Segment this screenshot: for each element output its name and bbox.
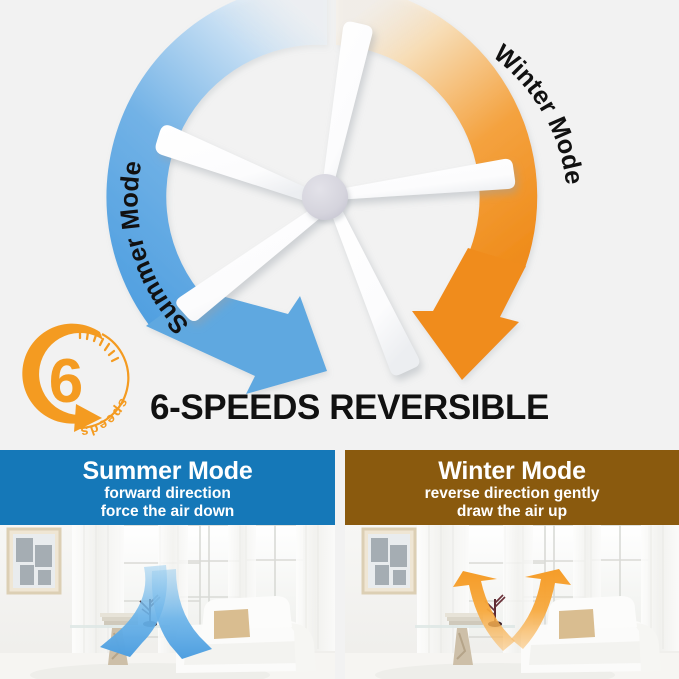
accent-pillow (214, 609, 250, 639)
winter-banner-title: Winter Mode (438, 457, 586, 485)
six-speeds-badge: 6 speeds (18, 318, 138, 438)
summer-mode-banner: Summer Mode forward direction force the … (0, 450, 335, 525)
summer-banner-title: Summer Mode (82, 457, 252, 485)
summer-banner-line2: force the air down (101, 503, 235, 521)
winter-mode-banner: Winter Mode reverse direction gently dra… (345, 450, 679, 525)
page-title: 6-SPEEDS REVERSIBLE (150, 385, 620, 431)
accent-pillow (559, 609, 595, 639)
summer-room-photo (0, 525, 335, 679)
infographic-page: Summer Mode Winter Mode (0, 0, 679, 679)
banner-divider (335, 450, 345, 679)
winter-banner-line2: draw the air up (457, 503, 567, 521)
badge-number: 6 (49, 347, 83, 416)
winter-room-photo (345, 525, 679, 679)
fan-hub (302, 174, 348, 220)
winter-banner-line1: reverse direction gently (425, 485, 600, 503)
summer-banner-line1: forward direction (104, 485, 231, 503)
